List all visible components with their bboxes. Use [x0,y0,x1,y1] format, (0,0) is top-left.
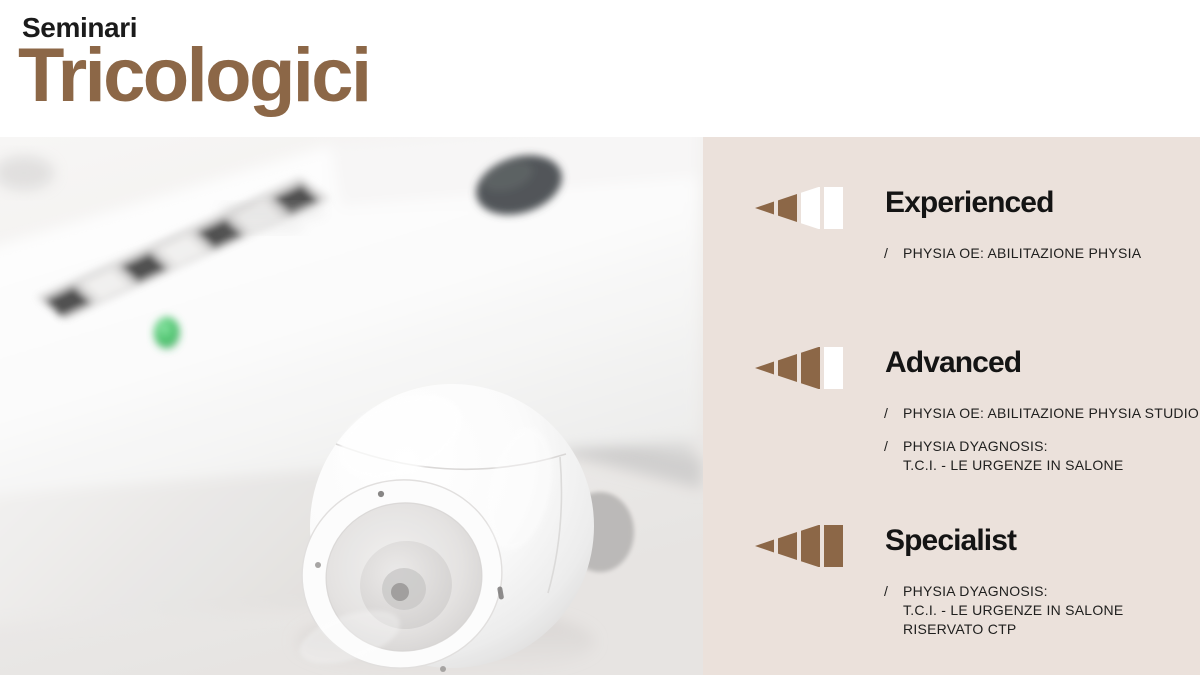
level-title: Specialist [885,520,1016,562]
bullet-slash: / [884,404,888,422]
device-photo-illustration [0,137,703,675]
list-item-text: PHYSIA DYAGNOSIS: T.C.I. - LE URGENZE IN… [903,438,1123,473]
level-item-list: / PHYSIA OE: ABILITAZIONE PHYSIA [703,244,1200,263]
level-header: Advanced [703,342,1200,392]
list-item-text: PHYSIA OE: ABILITAZIONE PHYSIA STUDIO [903,405,1199,421]
level-item-list: / PHYSIA OE: ABILITAZIONE PHYSIA STUDIO … [703,404,1200,475]
header-band: Seminari Tricologici [0,0,1200,137]
level-arrow-icon [755,347,850,389]
list-item-text: PHYSIA OE: ABILITAZIONE PHYSIA [903,245,1141,261]
level-block-experienced: Experienced / PHYSIA OE: ABILITAZIONE PH… [703,182,1200,263]
list-item-text: PHYSIA DYAGNOSIS: T.C.I. - LE URGENZE IN… [903,583,1123,637]
level-header: Specialist [703,520,1200,570]
level-arrow-icon [755,187,850,229]
hero-photo [0,137,703,675]
bullet-slash: / [884,244,888,262]
slide: Seminari Tricologici [0,0,1200,675]
list-item: / PHYSIA DYAGNOSIS: T.C.I. - LE URGENZE … [884,582,1200,639]
levels-panel: Experienced / PHYSIA OE: ABILITAZIONE PH… [703,137,1200,675]
level-title: Experienced [885,182,1054,224]
bullet-slash: / [884,582,888,600]
level-header: Experienced [703,182,1200,232]
list-item: / PHYSIA DYAGNOSIS: T.C.I. - LE URGENZE … [884,437,1200,475]
bullet-slash: / [884,437,888,455]
level-item-list: / PHYSIA DYAGNOSIS: T.C.I. - LE URGENZE … [703,582,1200,639]
list-item: / PHYSIA OE: ABILITAZIONE PHYSIA STUDIO [884,404,1200,423]
list-item: / PHYSIA OE: ABILITAZIONE PHYSIA [884,244,1200,263]
level-arrow-icon [755,525,850,567]
level-block-specialist: Specialist / PHYSIA DYAGNOSIS: T.C.I. - … [703,520,1200,639]
level-title: Advanced [885,342,1021,384]
page-title: Tricologici [18,38,369,114]
level-block-advanced: Advanced / PHYSIA OE: ABILITAZIONE PHYSI… [703,342,1200,475]
